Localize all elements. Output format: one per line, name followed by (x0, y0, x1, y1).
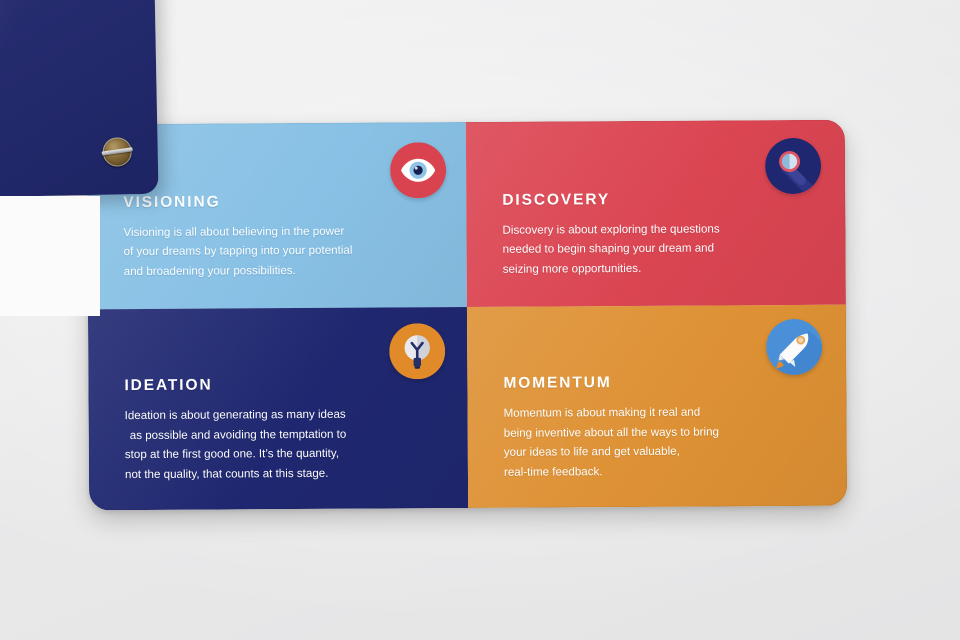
desc-line: your ideas to life and get valuable, (504, 445, 680, 459)
quadrant-title: DISCOVERY (502, 190, 771, 210)
quadrant-text-block: MOMENTUM Momentum is about making it rea… (503, 373, 773, 482)
desc-line: Discovery is about exploring the questio… (502, 222, 719, 236)
paper-edge (0, 196, 100, 316)
quadrant-title: VISIONING (123, 192, 392, 212)
desc-line: and broadening your possibilities. (124, 264, 296, 278)
scene-background: IS VISIONING Visioning is all about (0, 0, 960, 640)
desc-line: as possible and avoiding the temptation … (125, 424, 347, 445)
navy-card-partial[interactable]: IS (0, 0, 159, 198)
desc-line: real-time feedback. (504, 465, 603, 479)
lightbulb-icon (389, 323, 445, 379)
desc-line: Visioning is all about believing in the … (123, 225, 344, 239)
card-sheen (0, 0, 159, 198)
quadrant-description: Visioning is all about believing in the … (123, 222, 375, 282)
quadrant-text-block: VISIONING Visioning is all about believi… (123, 192, 393, 281)
quadrant-description: Ideation is about generating as many ide… (125, 405, 369, 484)
eye-icon (390, 142, 446, 198)
desc-line: being inventive about all the ways to br… (504, 425, 719, 439)
four-quadrant-card[interactable]: VISIONING Visioning is all about believi… (87, 120, 847, 511)
rocket-icon (766, 319, 822, 375)
quadrant-discovery[interactable]: DISCOVERY Discovery is about exploring t… (466, 120, 846, 308)
quadrant-momentum[interactable]: MOMENTUM Momentum is about making it rea… (467, 305, 847, 508)
desc-line: seizing more opportunities. (503, 262, 642, 276)
magnifier-icon (765, 138, 821, 194)
desc-line: stop at the first good one. It’s the qua… (125, 447, 339, 461)
desc-line: of your dreams by tapping into your pote… (124, 244, 353, 258)
quadrant-title: MOMENTUM (503, 373, 772, 393)
quadrant-text-block: DISCOVERY Discovery is about exploring t… (502, 190, 772, 279)
desc-line: not the quality, that counts at this sta… (125, 467, 329, 481)
quadrant-text-block: IDEATION Ideation is about generating as… (124, 376, 394, 485)
quadrant-description: Momentum is about making it real andbein… (504, 403, 752, 482)
quadrant-title: IDEATION (124, 376, 393, 396)
quadrant-ideation[interactable]: IDEATION Ideation is about generating as… (88, 307, 468, 510)
desc-line: needed to begin shaping your dream and (503, 242, 714, 256)
quadrant-description: Discovery is about exploring the questio… (502, 219, 754, 279)
desc-line: Ideation is about generating as many ide… (125, 408, 346, 422)
desc-line: Momentum is about making it real and (504, 406, 701, 420)
